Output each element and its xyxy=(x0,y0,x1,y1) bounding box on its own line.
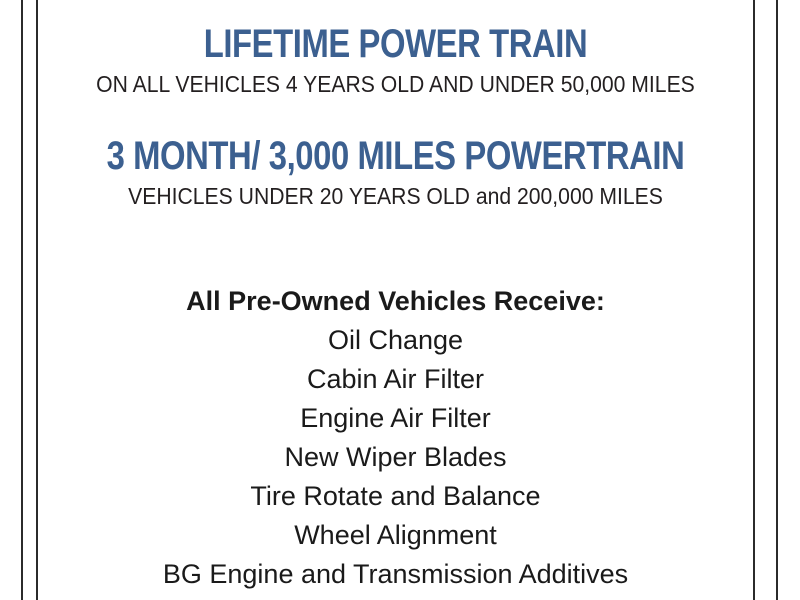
warranty-block-lifetime: LIFETIME POWER TRAIN ON ALL VEHICLES 4 Y… xyxy=(38,0,753,98)
services-section: All Pre-Owned Vehicles Receive: Oil Chan… xyxy=(38,210,753,594)
warranty-block-three-month: 3 MONTH/ 3,000 MILES POWERTRAIN VEHICLES… xyxy=(38,98,753,210)
border-rule-left-outer xyxy=(21,0,23,600)
list-item: New Wiper Blades xyxy=(38,438,753,477)
warranty-subline-three-month: VEHICLES UNDER 20 YEARS OLD and 200,000 … xyxy=(67,182,725,210)
warranty-headline-three-month: 3 MONTH/ 3,000 MILES POWERTRAIN xyxy=(102,134,688,178)
list-item: Cabin Air Filter xyxy=(38,360,753,399)
list-item: Wheel Alignment xyxy=(38,516,753,555)
warranty-subline-lifetime: ON ALL VEHICLES 4 YEARS OLD AND UNDER 50… xyxy=(67,70,725,98)
flyer-page: LIFETIME POWER TRAIN ON ALL VEHICLES 4 Y… xyxy=(0,0,800,600)
border-rule-right-outer xyxy=(776,0,778,600)
services-list: Oil Change Cabin Air Filter Engine Air F… xyxy=(38,321,753,594)
list-item: Tire Rotate and Balance xyxy=(38,477,753,516)
list-item: Oil Change xyxy=(38,321,753,360)
border-rule-right-inner xyxy=(753,0,755,600)
list-item: Engine Air Filter xyxy=(38,399,753,438)
content-column: LIFETIME POWER TRAIN ON ALL VEHICLES 4 Y… xyxy=(38,0,753,600)
warranty-headline-lifetime: LIFETIME POWER TRAIN xyxy=(102,22,688,66)
list-item: BG Engine and Transmission Additives xyxy=(38,555,753,594)
services-heading: All Pre-Owned Vehicles Receive: xyxy=(38,282,753,321)
